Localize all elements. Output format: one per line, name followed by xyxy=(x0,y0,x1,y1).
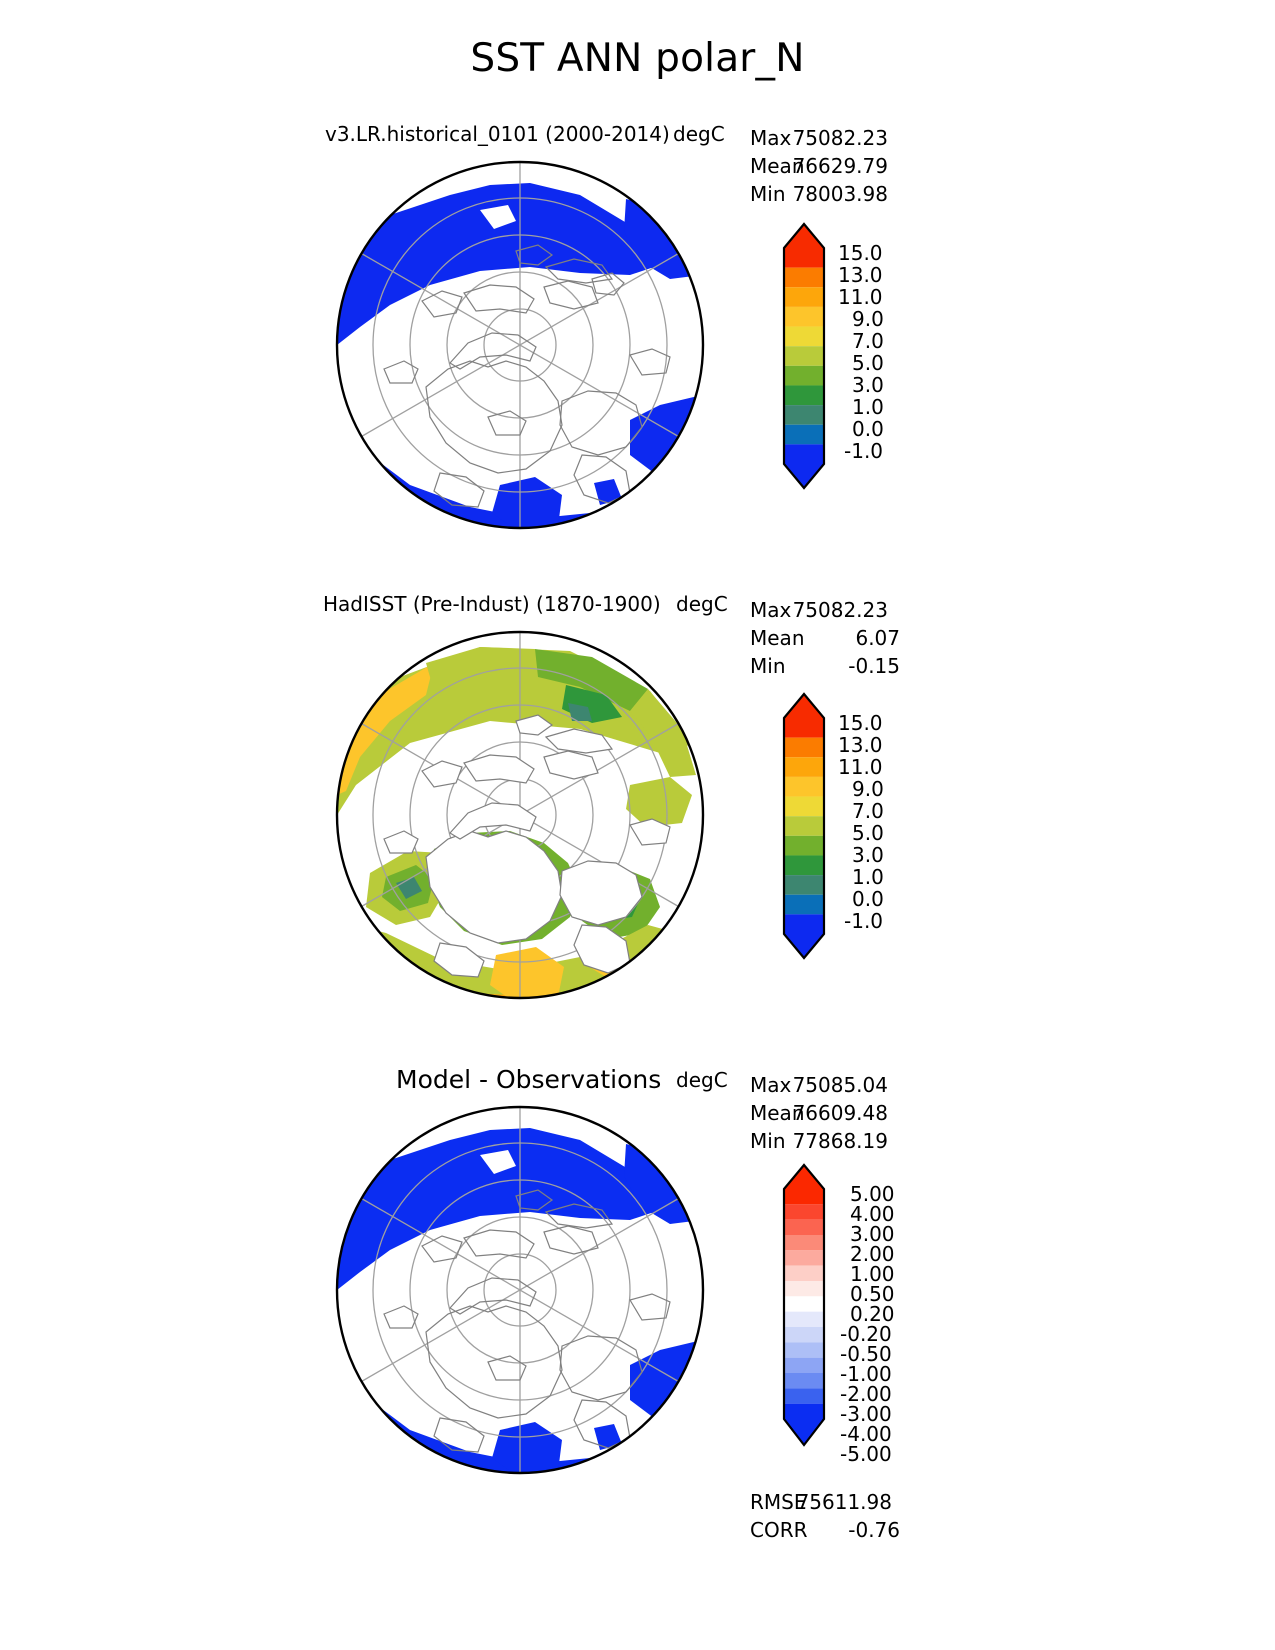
colorbar-segment xyxy=(782,327,828,347)
colorbar-segment xyxy=(782,855,828,875)
panel-title-model: v3.LR.historical_0101 (2000-2014) xyxy=(325,122,670,146)
colorbar-segment xyxy=(782,1250,828,1265)
colorbar-segment xyxy=(782,895,828,915)
colorbar-segment xyxy=(782,1373,828,1388)
tick-label: 1.0 xyxy=(852,395,884,419)
colorbar-segment xyxy=(782,1327,828,1342)
colorbar-segment xyxy=(782,797,828,817)
colorbar-segment xyxy=(782,1312,828,1327)
tick-label: 9.0 xyxy=(852,307,884,331)
colorbar-segment xyxy=(782,208,828,268)
colorbar-segment xyxy=(782,1296,828,1311)
panel-title-observations: HadISST (Pre-Indust) (1870-1900) xyxy=(323,592,661,616)
tick-label: 13.0 xyxy=(838,263,883,287)
stat-value: 78003.98 xyxy=(768,182,888,206)
stat-value: 75082.23 xyxy=(768,126,888,150)
colorbar-svg-observations xyxy=(782,688,828,964)
stat-value: 75082.23 xyxy=(768,598,888,622)
colorbar-segment xyxy=(782,777,828,797)
colorbar-segment xyxy=(782,1358,828,1373)
colorbar-segment xyxy=(782,1388,828,1403)
tick-label: -1.0 xyxy=(844,439,883,463)
colorbar-segment xyxy=(782,1204,828,1219)
tick-label: 3.0 xyxy=(852,373,884,397)
colorbar-segment xyxy=(782,816,828,836)
tick-label: 7.0 xyxy=(852,799,884,823)
colorbar-segment xyxy=(782,1220,828,1235)
tick-label: 0.0 xyxy=(852,417,884,441)
tick-label: 3.0 xyxy=(852,843,884,867)
colorbar-segment xyxy=(782,1281,828,1296)
stat-value: 76629.79 xyxy=(768,154,888,178)
stat-value: 75611.98 xyxy=(772,1490,892,1514)
colorbar-observations: 15.0 13.0 11.0 9.0 7.0 5.0 3.0 1.0 0.0 -… xyxy=(782,688,828,964)
panel-title-difference: Model - Observations xyxy=(396,1065,661,1094)
colorbar-segment xyxy=(782,1342,828,1357)
colorbar-segment xyxy=(782,385,828,405)
colorbar-segment xyxy=(782,1266,828,1281)
colorbar-segment xyxy=(782,875,828,895)
stat-value: -0.15 xyxy=(780,654,900,678)
figure-canvas: SST ANN polar_N v3.LR.historical_0101 (2… xyxy=(0,0,1275,1650)
colorbar-segment xyxy=(782,366,828,386)
colorbar-segment xyxy=(782,1235,828,1250)
panel-units-difference: degC xyxy=(676,1068,728,1092)
stat-value: 6.07 xyxy=(780,626,900,650)
colorbar-segment xyxy=(782,425,828,445)
colorbar-segment xyxy=(782,1404,828,1459)
tick-label: 7.0 xyxy=(852,329,884,353)
stat-value: 76609.48 xyxy=(768,1101,888,1125)
colorbar-segment xyxy=(782,1149,828,1204)
colorbar-segment xyxy=(782,346,828,366)
colorbar-segment xyxy=(782,307,828,327)
tick-label: -1.0 xyxy=(844,909,883,933)
tick-label: 9.0 xyxy=(852,777,884,801)
colorbar-segment xyxy=(782,678,828,738)
tick-label: 0.0 xyxy=(852,887,884,911)
colorbar-segment xyxy=(782,287,828,307)
tick-label: 13.0 xyxy=(838,733,883,757)
polar-map-difference xyxy=(330,1100,710,1480)
colorbar-svg-difference xyxy=(782,1161,828,1451)
tick-label: 11.0 xyxy=(838,755,883,779)
tick-label: 5.0 xyxy=(852,821,884,845)
panel-difference: Model - Observations degC Max 75085.04 M… xyxy=(0,945,1275,1585)
tick-label: -5.00 xyxy=(840,1442,892,1466)
colorbar-ticks-model: 15.0 13.0 11.0 9.0 7.0 5.0 3.0 1.0 0.0 -… xyxy=(838,218,948,494)
colorbar-segment xyxy=(782,757,828,777)
stat-value: -0.76 xyxy=(780,1518,900,1542)
polar-map-svg-difference xyxy=(330,1100,710,1480)
tick-label: 15.0 xyxy=(838,241,883,265)
colorbar-ticks-difference: 5.00 4.00 3.00 2.00 1.00 0.50 0.20 -0.20… xyxy=(838,1161,948,1451)
tick-label: 11.0 xyxy=(838,285,883,309)
panel-units-observations: degC xyxy=(676,592,728,616)
stat-value: 75085.04 xyxy=(768,1073,888,1097)
tick-label: 15.0 xyxy=(838,711,883,735)
colorbar-segment xyxy=(782,738,828,758)
panel-units-model: degC xyxy=(673,122,725,146)
colorbar-segment xyxy=(782,268,828,288)
colorbar-segment xyxy=(782,405,828,425)
colorbar-svg-model xyxy=(782,218,828,494)
tick-label: 5.0 xyxy=(852,351,884,375)
colorbar-model: 15.0 13.0 11.0 9.0 7.0 5.0 3.0 1.0 0.0 -… xyxy=(782,218,828,494)
colorbar-ticks-observations: 15.0 13.0 11.0 9.0 7.0 5.0 3.0 1.0 0.0 -… xyxy=(838,688,948,964)
tick-label: 1.0 xyxy=(852,865,884,889)
colorbar-difference: 5.00 4.00 3.00 2.00 1.00 0.50 0.20 -0.20… xyxy=(782,1161,828,1451)
stat-value: 77868.19 xyxy=(768,1129,888,1153)
colorbar-segment xyxy=(782,836,828,856)
